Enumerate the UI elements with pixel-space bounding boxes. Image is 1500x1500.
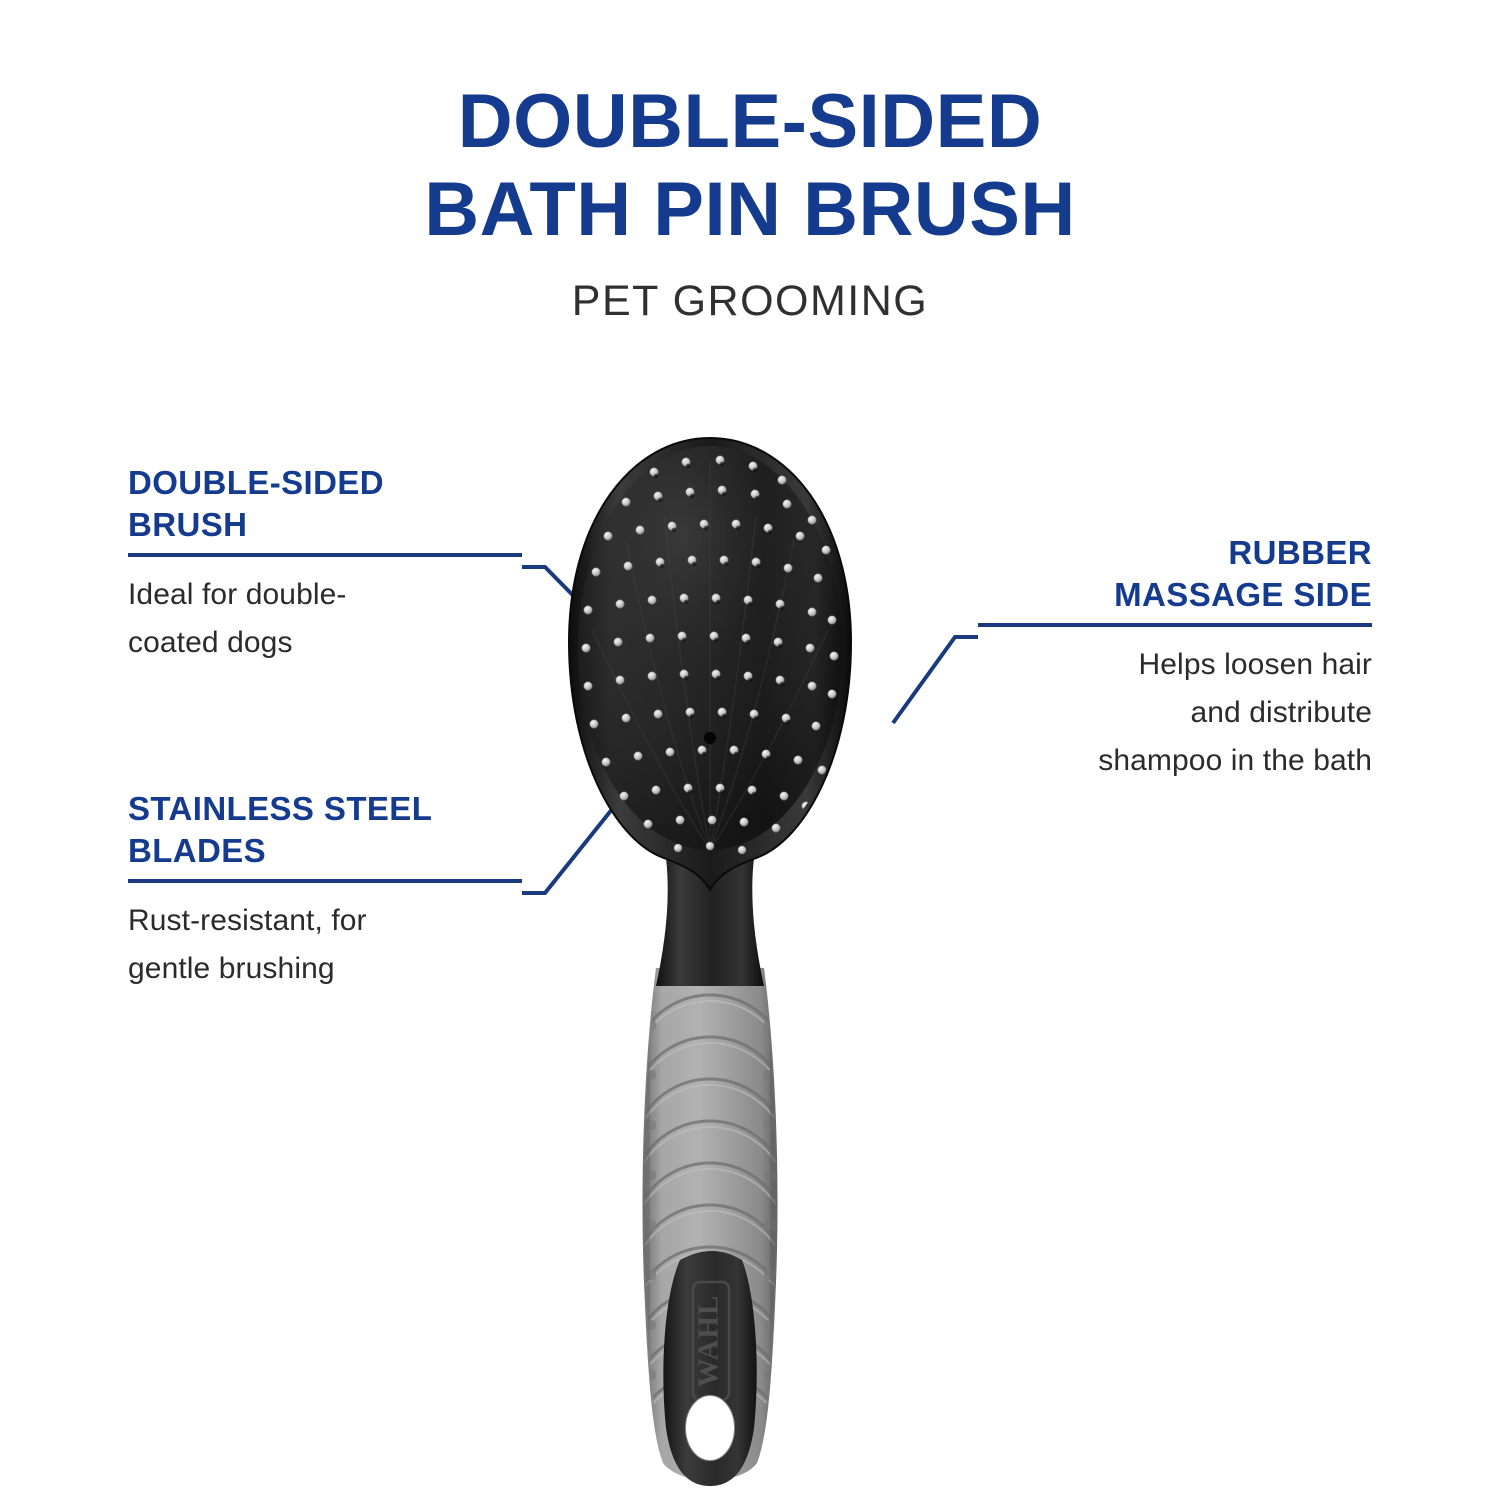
infographic-page: DOUBLE-SIDED BATH PIN BRUSH PET GROOMING… [0, 0, 1500, 1500]
callout-heading-line-1: STAINLESS STEEL [128, 788, 522, 830]
callout-underline [128, 553, 522, 557]
callout-heading-line-1: DOUBLE-SIDED [128, 462, 522, 504]
callout-underline [978, 623, 1372, 627]
callout-body-line-1: Rust-resistant, for [128, 897, 522, 945]
callout-body-line-3: shampoo in the bath [978, 737, 1372, 785]
product-image-pin-brush: WAHL [560, 420, 960, 1490]
callout-body: Helps loosen hair and distribute shampoo… [978, 641, 1372, 785]
page-title-line-2: BATH PIN BRUSH [0, 166, 1500, 254]
callout-heading: STAINLESS STEEL BLADES [128, 788, 522, 872]
brush-head-pad [569, 438, 851, 890]
callout-body-line-2: and distribute [978, 689, 1372, 737]
callout-double-sided-brush: DOUBLE-SIDED BRUSH Ideal for double- coa… [128, 462, 522, 667]
callout-body: Ideal for double- coated dogs [128, 571, 522, 667]
wahl-brand-badge: WAHL [693, 1282, 729, 1400]
header-block: DOUBLE-SIDED BATH PIN BRUSH PET GROOMING [0, 78, 1500, 326]
callout-body-line-1: Ideal for double- [128, 571, 522, 619]
callout-body-line-2: coated dogs [128, 619, 522, 667]
callout-heading-line-2: BRUSH [128, 504, 522, 546]
callout-body-line-1: Helps loosen hair [978, 641, 1372, 689]
pad-air-vent [704, 732, 716, 744]
callout-heading-line-2: MASSAGE SIDE [978, 574, 1372, 616]
callout-body: Rust-resistant, for gentle brushing [128, 897, 522, 993]
callout-heading: RUBBER MASSAGE SIDE [978, 532, 1372, 616]
brush-handle: WAHL [620, 960, 804, 1490]
wahl-brand-label: WAHL [693, 1295, 725, 1388]
callout-heading-line-1: RUBBER [978, 532, 1372, 574]
page-subtitle: PET GROOMING [0, 276, 1500, 326]
callout-stainless-steel-blades: STAINLESS STEEL BLADES Rust-resistant, f… [128, 788, 522, 993]
page-title-line-1: DOUBLE-SIDED [0, 78, 1500, 166]
callout-heading: DOUBLE-SIDED BRUSH [128, 462, 522, 546]
callout-heading-line-2: BLADES [128, 830, 522, 872]
callout-rubber-massage-side: RUBBER MASSAGE SIDE Helps loosen hair an… [978, 532, 1372, 785]
callout-body-line-2: gentle brushing [128, 945, 522, 993]
callout-underline [128, 879, 522, 883]
